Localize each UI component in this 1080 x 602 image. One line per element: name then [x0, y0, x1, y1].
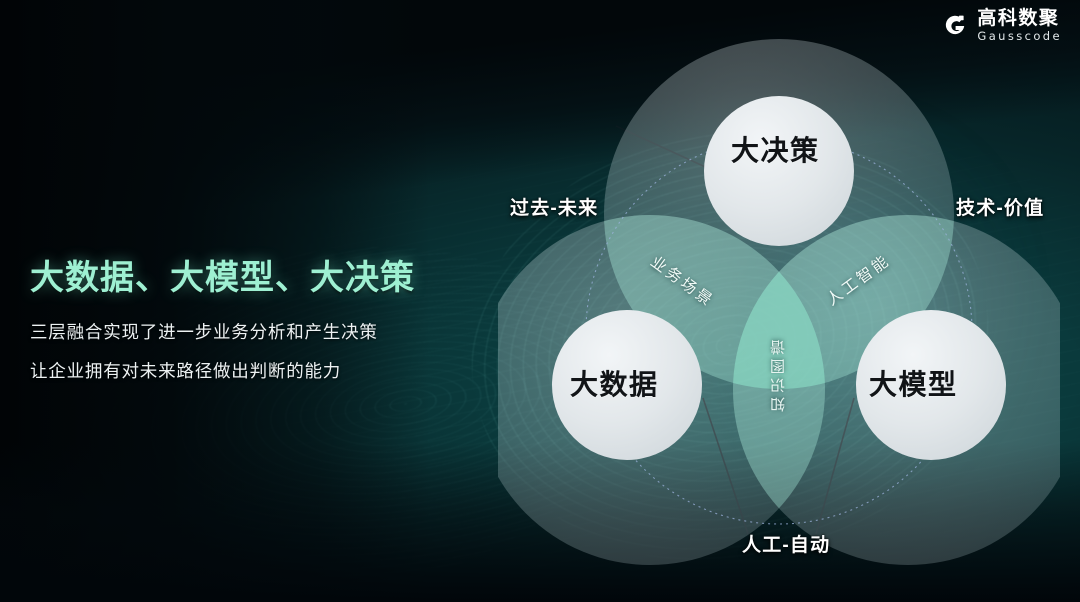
axis-label-manual-auto: 人工-自动	[742, 530, 830, 557]
subtitle-line-2: 让企业拥有对未来路径做出判断的能力	[30, 358, 415, 383]
node-label-bigmodel: 大模型	[869, 363, 958, 403]
brand-name-en: Gausscode	[977, 31, 1062, 43]
page-title: 大数据、大模型、大决策	[30, 250, 415, 299]
node-label-bigdata: 大数据	[570, 363, 659, 403]
venn-diagram	[498, 18, 1060, 584]
node-label-decision: 大决策	[731, 129, 820, 169]
axis-label-past-future: 过去-未来	[510, 193, 598, 220]
axis-label-tech-value: 技术-价值	[956, 193, 1044, 220]
overlap-label-knowledge-graph: 知识图谱	[768, 336, 789, 412]
copy-block: 大数据、大模型、大决策 三层融合实现了进一步业务分析和产生决策 让企业拥有对未来…	[30, 250, 415, 383]
gausscode-logo-icon	[942, 13, 968, 39]
node-disc-decision	[704, 96, 854, 246]
slide-canvas: 高科数聚 Gausscode 大数据、大模型、大决策 三层融合实现了进一步业务分…	[0, 0, 1080, 602]
brand-logo-text: 高科数聚 Gausscode	[977, 9, 1062, 43]
brand-name-cn: 高科数聚	[977, 9, 1062, 28]
brand-logo: 高科数聚 Gausscode	[942, 9, 1062, 43]
subtitle-line-1: 三层融合实现了进一步业务分析和产生决策	[30, 319, 415, 344]
